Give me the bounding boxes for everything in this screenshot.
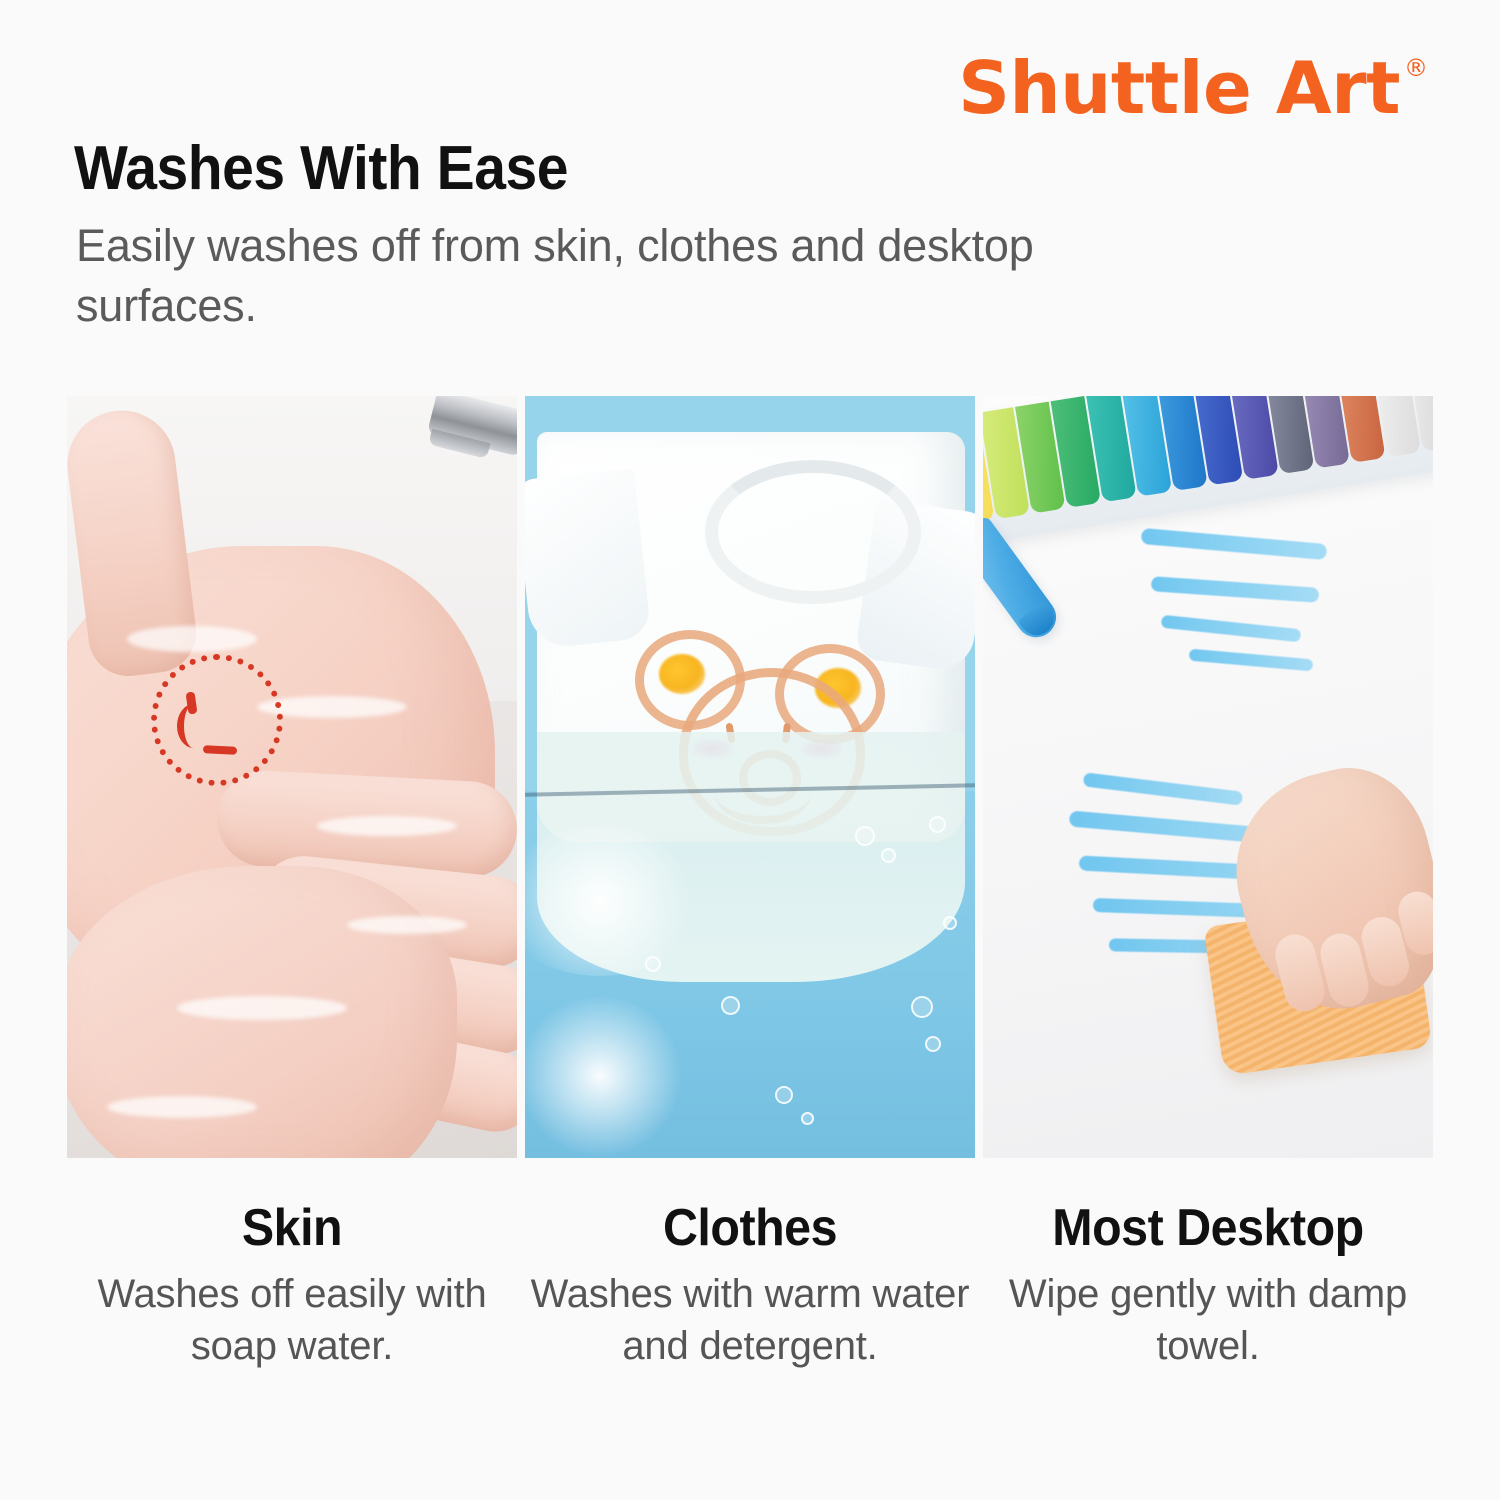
paint-stroke [1141, 528, 1328, 560]
panel-image-desktop [983, 396, 1433, 1158]
registered-trademark-icon: ® [1404, 56, 1428, 80]
smiley-mouth [203, 745, 237, 755]
water-sheen [177, 996, 347, 1020]
page-subtitle: Easily washes off from skin, clothes and… [76, 216, 1076, 337]
panel-image-clothes [525, 396, 975, 1158]
water-sheen [127, 626, 257, 652]
paint-stroke [1083, 772, 1244, 805]
paint-stroke [1151, 576, 1320, 603]
panel-gallery [67, 396, 1435, 1158]
bubble [855, 826, 875, 846]
caption-title: Most Desktop [999, 1200, 1418, 1256]
page-title: Washes With Ease [74, 133, 568, 204]
paint-stroke [1189, 649, 1314, 672]
bubble [881, 848, 896, 863]
water-sheen [107, 1096, 257, 1118]
red-smiley-drawing [151, 654, 283, 786]
bubble [775, 1086, 793, 1104]
bubble [721, 996, 740, 1015]
caption-clothes: Clothes Washes with warm water and deter… [525, 1200, 975, 1372]
brand-logo: Shuttle Art ® [958, 52, 1428, 124]
caption-row: Skin Washes off easily with soap water. … [67, 1200, 1435, 1372]
caption-skin: Skin Washes off easily with soap water. [67, 1200, 517, 1372]
caption-title: Skin [83, 1200, 502, 1256]
bubble [645, 956, 661, 972]
bubble [929, 816, 946, 833]
bubble [943, 916, 957, 930]
caption-description: Washes off easily with soap water. [67, 1268, 517, 1372]
water-sheen [317, 816, 457, 836]
paint-stick-tray [983, 396, 1433, 548]
smiley-curve [177, 704, 210, 748]
paint-stroke [1161, 615, 1302, 643]
caption-title: Clothes [541, 1200, 960, 1256]
sleeve-left [525, 468, 652, 650]
caption-desktop: Most Desktop Wipe gently with damp towel… [983, 1200, 1433, 1372]
bubble [911, 996, 933, 1018]
bear-ear-inner-left [659, 654, 705, 694]
bubble [801, 1112, 814, 1125]
water-sheen [347, 916, 467, 934]
caption-description: Washes with warm water and detergent. [525, 1268, 975, 1372]
bubble [925, 1036, 941, 1052]
panel-image-skin [67, 396, 517, 1158]
tshirt-shape [537, 432, 965, 842]
caption-description: Wipe gently with damp towel. [983, 1268, 1433, 1372]
brand-name: Shuttle Art [958, 52, 1400, 124]
shirt-collar [705, 460, 921, 604]
